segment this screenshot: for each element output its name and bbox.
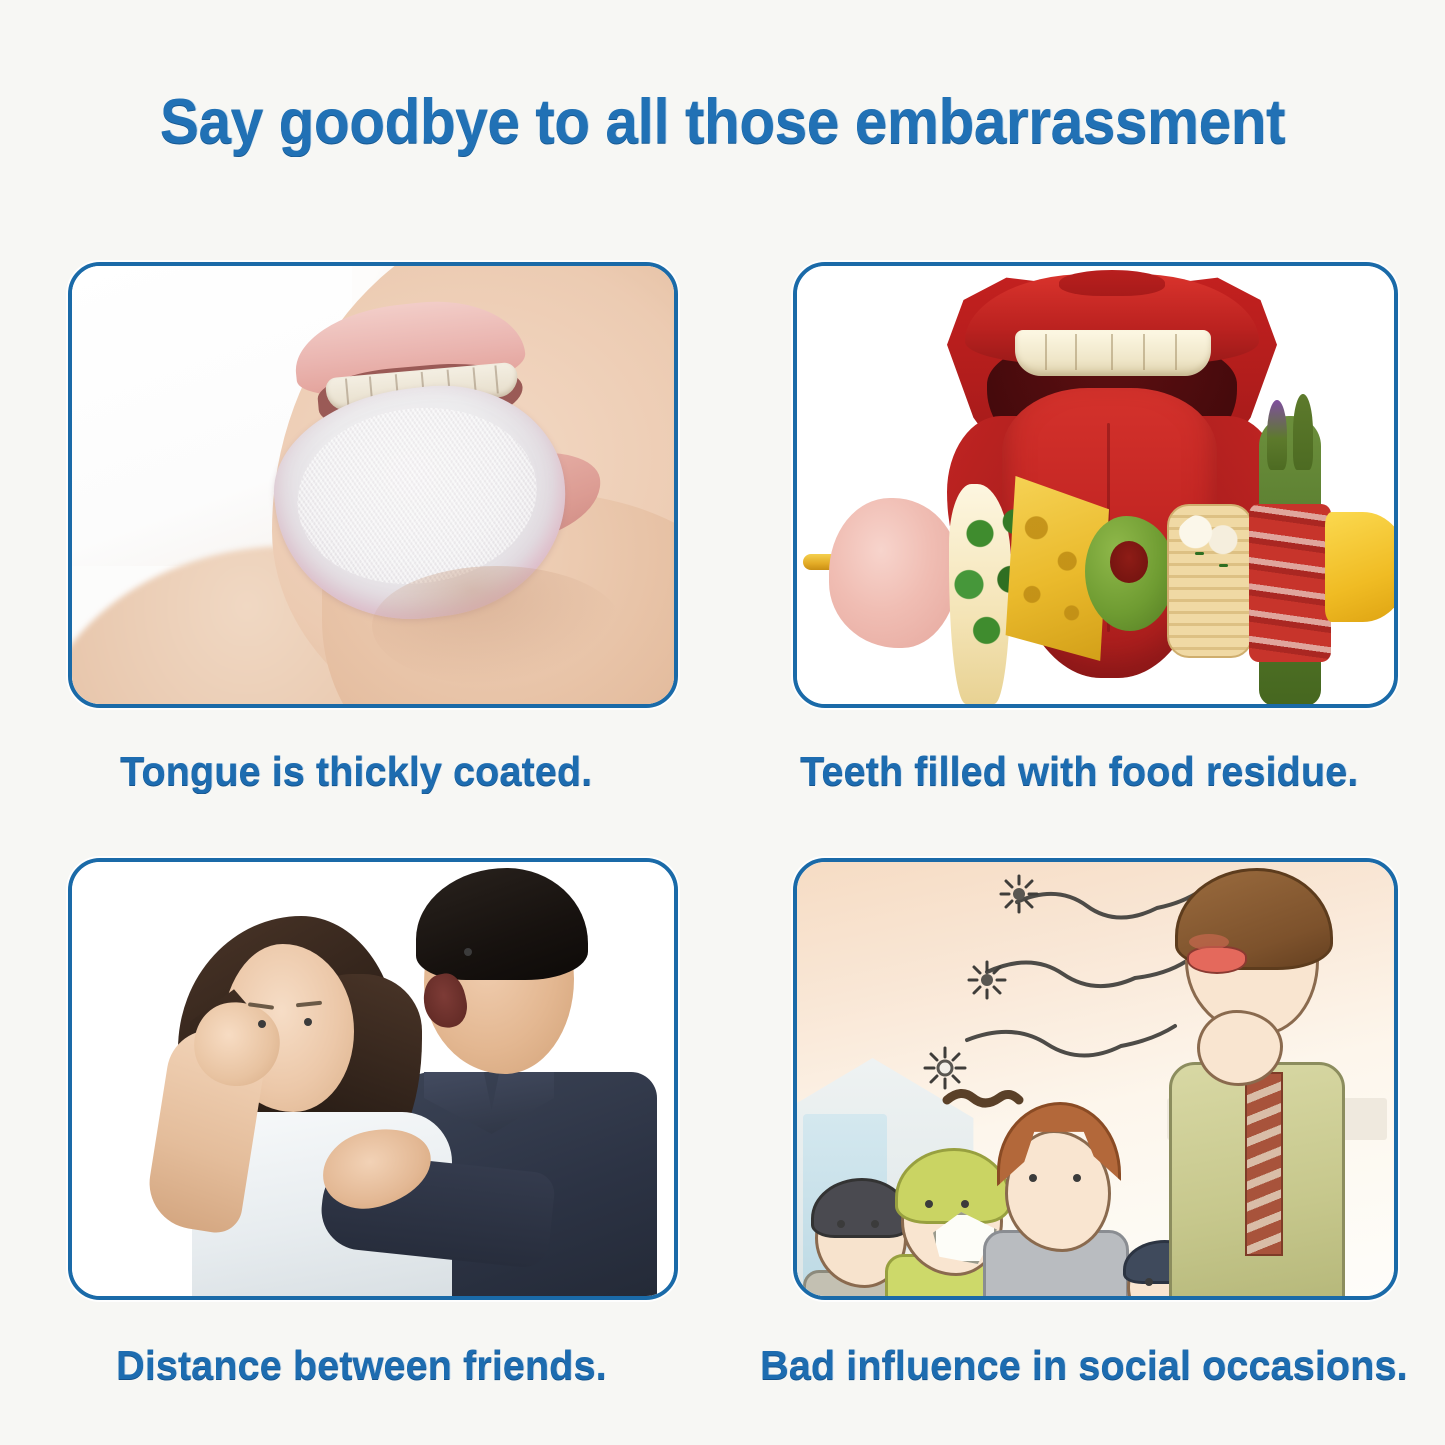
office-bad-breath-cartoon xyxy=(797,862,1394,1296)
caption-friends: Distance between friends. xyxy=(116,1342,607,1389)
mouth-food-residue-illustration xyxy=(797,266,1394,704)
caption-social: Bad influence in social occasions. xyxy=(760,1342,1408,1389)
card-tongue xyxy=(68,262,678,708)
caption-tongue: Tongue is thickly coated. xyxy=(120,748,592,795)
card-friends xyxy=(68,858,678,1300)
poster-root: Say goodbye to all those embarrassment T… xyxy=(0,0,1445,1445)
couple-bad-breath-photo xyxy=(72,862,674,1296)
coated-tongue-photo xyxy=(72,266,674,704)
card-teeth xyxy=(793,262,1398,708)
card-social xyxy=(793,858,1398,1300)
caption-teeth: Teeth filled with food residue. xyxy=(800,748,1358,795)
page-title: Say goodbye to all those embarrassment xyxy=(51,86,1395,158)
